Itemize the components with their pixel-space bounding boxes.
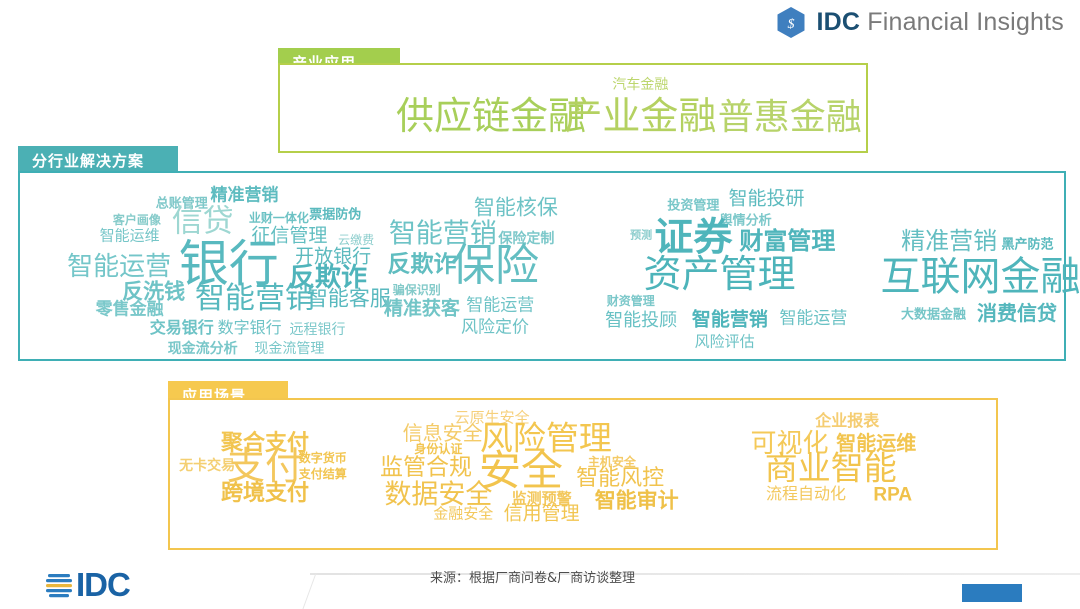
cloud-word: 远程银行: [290, 322, 346, 336]
cloud-word: 财富管理: [739, 230, 835, 254]
cloud-word: 消费信贷: [977, 304, 1057, 324]
cloud-word: 客户画像: [113, 214, 161, 226]
section-tab-vertical[interactable]: 分行业解决方案: [18, 146, 178, 174]
section-panel-scenario: 聚合支付无卡交易支付数字货币支付结算跨境支付云原生安全信息安全风险管理身份认证监…: [168, 398, 998, 550]
cloud-word: 零售金融: [96, 300, 164, 317]
idc-globe-icon: [44, 568, 74, 602]
cloud-word: 大数据金融: [901, 308, 966, 321]
cloud-word: 智能运营: [466, 297, 534, 314]
cloud-word: 智能营销: [692, 310, 768, 329]
section-panel-vertical: 总账管理精准营销客户画像信贷业财一体化票据防伪智能运维征信管理云缴费智能运营银行…: [18, 171, 1066, 361]
cloud-word: 精准营销: [210, 187, 278, 204]
cloud-word: 跨境支付: [221, 482, 309, 504]
cloud-word: 投资管理: [667, 198, 719, 211]
cloud-word: 证券: [654, 219, 732, 258]
cloud-word: 反欺诈: [387, 253, 456, 276]
cloud-word: 支付结算: [299, 468, 347, 480]
cloud-word: 资产管理: [643, 256, 795, 294]
cloud-word: 现金流管理: [254, 341, 324, 355]
cloud-word: 风险评估: [695, 335, 755, 350]
cloud-word: 互联网金融: [880, 257, 1080, 297]
cloud-word: 智能运维: [100, 229, 160, 244]
idc-footer-wordmark: IDC: [76, 566, 130, 604]
cloud-word: 骗保识别: [393, 284, 441, 296]
cloud-word: 数字银行: [218, 321, 282, 337]
brand-title: IDC Financial Insights: [816, 8, 1064, 37]
word-cloud-industry: 供应链金融汽车金融产业金融普惠金融: [280, 65, 866, 151]
idc-hex-icon: $: [776, 6, 806, 39]
cloud-word: 供应链金融: [396, 98, 586, 136]
cloud-word: 流程自动化: [766, 487, 846, 503]
cloud-word: 保险: [451, 244, 539, 288]
section-tab-label: 分行业解决方案: [32, 150, 144, 171]
word-cloud-vertical: 总账管理精准营销客户画像信贷业财一体化票据防伪智能运维征信管理云缴费智能运营银行…: [20, 173, 1064, 359]
cloud-word: 普惠金融: [718, 99, 862, 135]
cloud-word: 产业金融: [564, 98, 716, 136]
cloud-word: 智能审计: [595, 490, 679, 511]
cloud-word: 智能运营: [779, 310, 847, 327]
cloud-word: 汽车金融: [612, 77, 668, 91]
cloud-word: 票据防伪: [309, 207, 361, 220]
cloud-word: 商业智能: [765, 452, 897, 485]
cloud-word: 精准获客: [384, 299, 460, 318]
cloud-word: 数据安全: [384, 481, 492, 508]
cloud-word: 交易银行: [150, 321, 214, 337]
brand-header: $ IDC Financial Insights: [776, 6, 1064, 39]
cloud-word: 黑产防范: [1001, 237, 1053, 250]
corner-accent-block: [962, 584, 1022, 602]
cloud-word: 监管合规: [380, 455, 472, 478]
cloud-word: 云缴费: [338, 234, 374, 246]
cloud-word: 预测: [630, 231, 652, 242]
cloud-word: 智能风控: [576, 467, 664, 489]
source-note: 来源：根据厂商问卷&厂商访谈整理: [430, 567, 635, 586]
cloud-word: 智能客服: [307, 289, 391, 310]
svg-text:$: $: [788, 17, 795, 32]
cloud-word: 风险定价: [461, 319, 529, 336]
cloud-word: 智能营销: [195, 284, 315, 314]
brand-name-light: Financial Insights: [860, 8, 1064, 36]
slide: $ IDC Financial Insights 产业应用 供应链金融汽车金融产…: [0, 0, 1080, 608]
cloud-word: 智能核保: [474, 198, 558, 219]
cloud-word: 现金流分析: [168, 341, 238, 355]
word-cloud-scenario: 聚合支付无卡交易支付数字货币支付结算跨境支付云原生安全信息安全风险管理身份认证监…: [170, 400, 996, 548]
cloud-word: 金融安全: [433, 506, 493, 521]
cloud-word: 智能投研: [728, 190, 804, 209]
cloud-word: 数字货币: [299, 452, 347, 464]
cloud-word: 信贷: [172, 206, 234, 237]
cloud-word: 智能运营: [67, 253, 171, 279]
cloud-word: RPA: [873, 485, 912, 504]
idc-footer-logo: IDC: [44, 566, 130, 604]
cloud-word: 信用管理: [504, 504, 580, 523]
cloud-word: 精准营销: [901, 230, 997, 254]
section-panel-industry: 供应链金融汽车金融产业金融普惠金融: [278, 63, 868, 153]
cloud-word: 智能投顾: [605, 311, 677, 329]
cloud-word: 业财一体化: [249, 212, 309, 224]
cloud-word: 财资管理: [607, 295, 655, 307]
brand-name-bold: IDC: [816, 8, 860, 36]
